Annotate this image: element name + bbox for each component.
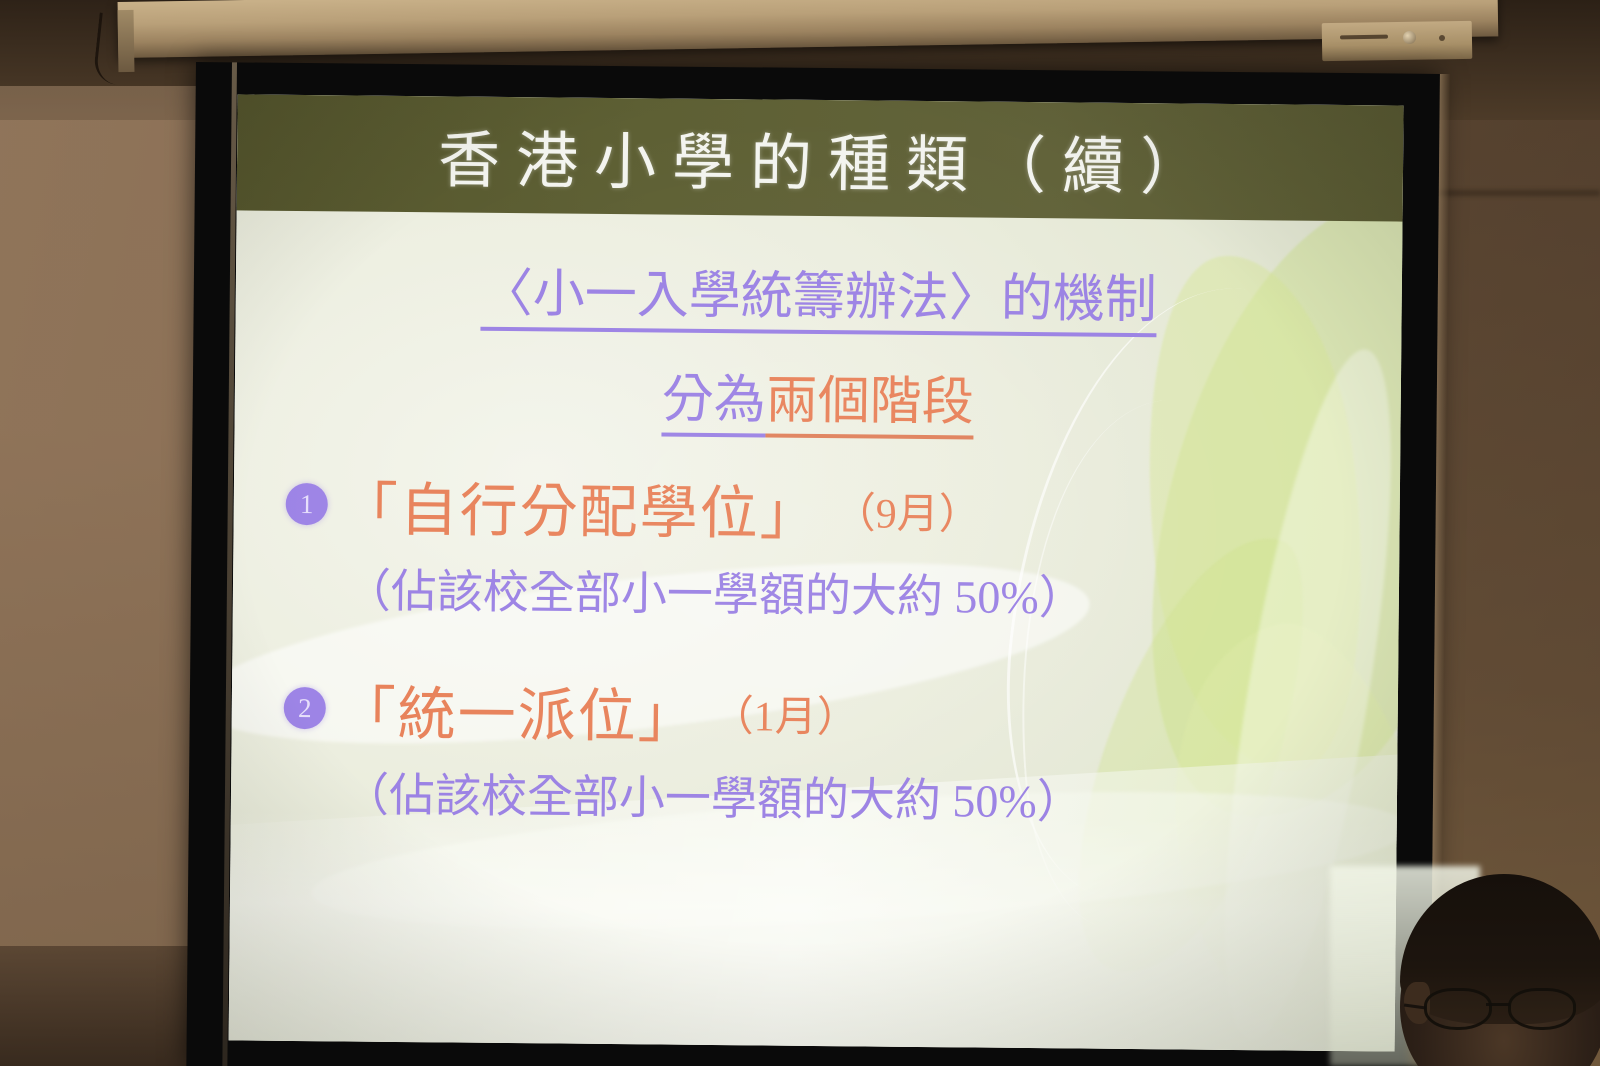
heading-line-1: 〈小一入學統籌辦法〉的機制: [281, 263, 1356, 334]
projected-slide: 香港小學的種類（續） 〈小一入學統籌辦法〉的機制 分為兩個階段 1 「自行分配學…: [229, 94, 1404, 1051]
circled-number-icon: 2: [284, 687, 326, 729]
housing-knob: [1403, 31, 1416, 44]
glasses-bridge: [1486, 1003, 1510, 1006]
glasses-right-lens: [1508, 988, 1576, 1030]
bullet-month: （9月）: [833, 479, 981, 541]
slide-title-band: 香港小學的種類（續）: [237, 94, 1404, 221]
heading-line-2: 分為兩個階段: [280, 353, 1355, 438]
bullet-note: （佔該校全部小一學額的大約 50%）: [345, 555, 1354, 631]
wall-left-panel: [0, 86, 210, 1066]
circled-number-icon: 1: [286, 483, 328, 525]
photo-scene: 香港小學的種類（續） 〈小一入學統籌辦法〉的機制 分為兩個階段 1 「自行分配學…: [0, 0, 1600, 1066]
slide-title: 香港小學的種類（續）: [422, 109, 1219, 207]
presenter: [1368, 866, 1600, 1066]
housing-end-cap-right: [1322, 21, 1473, 61]
bullet-month: （1月）: [712, 682, 860, 744]
glasses-left-lens: [1424, 988, 1492, 1030]
glasses-icon: [1420, 990, 1590, 1030]
projection-screen-frame: 香港小學的種類（續） 〈小一入學統籌辦法〉的機制 分為兩個階段 1 「自行分配學…: [186, 62, 1440, 1066]
bullet-note: （佔該校全部小一學額的大約 50%）: [343, 759, 1352, 835]
heading-line-2-orange: 兩個階段: [765, 373, 974, 440]
bullet-title: 「統一派位」: [337, 667, 698, 754]
heading-line-2-purple: 分為: [661, 372, 766, 438]
list-item: 2 「統一派位」 （1月）: [283, 666, 1352, 760]
wall-baseboard: [0, 946, 210, 1066]
heading-line-1-text: 〈小一入學統籌辦法〉的機制: [480, 266, 1157, 337]
housing-vent-slot: [1340, 35, 1388, 40]
housing-screw: [1439, 35, 1445, 41]
housing-end-cap-left: [118, 10, 135, 72]
slide-body: 〈小一入學統籌辦法〉的機制 分為兩個階段 1 「自行分配學位」 （9月） （佔該…: [229, 210, 1403, 1051]
list-item: 1 「自行分配學位」 （9月）: [285, 462, 1354, 556]
bullet-title: 「自行分配學位」: [339, 463, 820, 552]
